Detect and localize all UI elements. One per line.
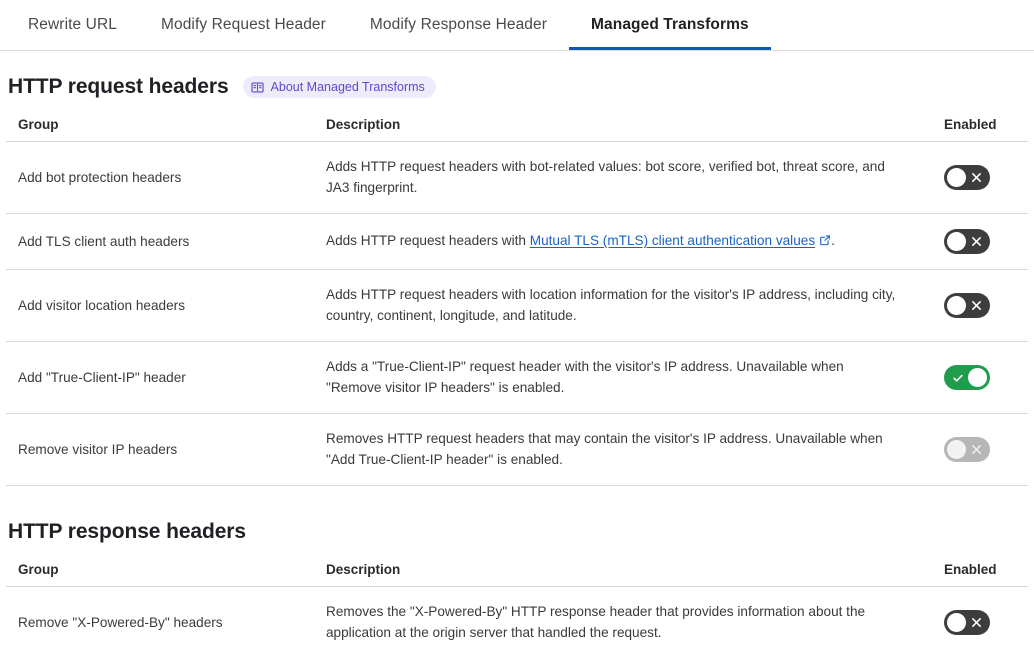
row-group-label: Remove visitor IP headers (6, 414, 326, 486)
tab-modify-request-header[interactable]: Modify Request Header (139, 0, 348, 50)
table-row: Add visitor location headers Adds HTTP r… (6, 270, 1028, 342)
table-row: Add bot protection headers Adds HTTP req… (6, 142, 1028, 214)
book-icon (251, 81, 264, 94)
table-row: Add "True-Client-IP" header Adds a "True… (6, 342, 1028, 414)
row-enabled-cell (934, 587, 1028, 653)
mtls-documentation-link[interactable]: Mutual TLS (mTLS) client authentication … (530, 233, 815, 248)
request-headers-table: Group Description Enabled Add bot protec… (6, 117, 1028, 486)
toggle-add-tls-client-auth-headers[interactable] (944, 229, 990, 254)
tab-managed-transforms[interactable]: Managed Transforms (569, 0, 771, 50)
row-enabled-cell (934, 414, 1028, 486)
row-enabled-cell (934, 214, 1028, 270)
column-header-enabled: Enabled (934, 562, 1028, 587)
about-managed-transforms-badge[interactable]: About Managed Transforms (243, 76, 436, 98)
table-header-row: Group Description Enabled (6, 562, 1028, 587)
toggle-knob (947, 232, 966, 251)
response-headers-table: Group Description Enabled Remove "X-Powe… (6, 562, 1028, 653)
tab-modify-response-header[interactable]: Modify Response Header (348, 0, 569, 50)
toggle-add-true-client-ip-header[interactable] (944, 365, 990, 390)
close-icon (969, 437, 983, 462)
row-description-prefix: Adds HTTP request headers with (326, 233, 530, 248)
column-header-description: Description (326, 562, 934, 587)
table-row: Add TLS client auth headers Adds HTTP re… (6, 214, 1028, 270)
tab-bar: Rewrite URL Modify Request Header Modify… (0, 0, 1034, 51)
column-header-group: Group (6, 117, 326, 142)
close-icon (969, 229, 983, 254)
close-icon (969, 610, 983, 635)
row-group-label: Add "True-Client-IP" header (6, 342, 326, 414)
mtls-link-label: Mutual TLS (mTLS) client authentication … (530, 233, 815, 248)
close-icon (969, 165, 983, 190)
row-group-label: Add bot protection headers (6, 142, 326, 214)
toggle-remove-visitor-ip-headers (944, 437, 990, 462)
row-description: Removes HTTP request headers that may co… (326, 414, 934, 486)
row-description: Adds a "True-Client-IP" request header w… (326, 342, 934, 414)
toggle-knob (947, 168, 966, 187)
row-description: Adds HTTP request headers with bot-relat… (326, 142, 934, 214)
toggle-knob (947, 440, 966, 459)
table-row: Remove "X-Powered-By" headers Removes th… (6, 587, 1028, 653)
page-title-request-headers: HTTP request headers (8, 75, 229, 99)
table-header-row: Group Description Enabled (6, 117, 1028, 142)
row-enabled-cell (934, 342, 1028, 414)
about-managed-transforms-label: About Managed Transforms (271, 79, 425, 95)
row-description: Adds HTTP request headers with location … (326, 270, 934, 342)
row-group-label: Add TLS client auth headers (6, 214, 326, 270)
section-header-response: HTTP response headers (6, 520, 1028, 544)
page-title-response-headers: HTTP response headers (8, 520, 246, 544)
row-group-label: Remove "X-Powered-By" headers (6, 587, 326, 653)
row-enabled-cell (934, 270, 1028, 342)
close-icon (969, 293, 983, 318)
toggle-knob (947, 296, 966, 315)
row-description: Adds HTTP request headers with Mutual TL… (326, 214, 934, 270)
check-icon (951, 365, 965, 390)
table-row: Remove visitor IP headers Removes HTTP r… (6, 414, 1028, 486)
row-description-suffix: . (831, 233, 835, 248)
row-group-label: Add visitor location headers (6, 270, 326, 342)
toggle-knob (947, 613, 966, 632)
toggle-remove-x-powered-by-headers[interactable] (944, 610, 990, 635)
column-header-group: Group (6, 562, 326, 587)
page-content: HTTP request headers About Managed Trans… (0, 51, 1034, 653)
section-header-request: HTTP request headers About Managed Trans… (6, 75, 1028, 99)
external-link-icon[interactable] (819, 232, 831, 253)
column-header-enabled: Enabled (934, 117, 1028, 142)
row-enabled-cell (934, 142, 1028, 214)
column-header-description: Description (326, 117, 934, 142)
toggle-add-bot-protection-headers[interactable] (944, 165, 990, 190)
toggle-add-visitor-location-headers[interactable] (944, 293, 990, 318)
toggle-knob (968, 368, 987, 387)
row-description: Removes the "X-Powered-By" HTTP response… (326, 587, 934, 653)
tab-rewrite-url[interactable]: Rewrite URL (6, 0, 139, 50)
